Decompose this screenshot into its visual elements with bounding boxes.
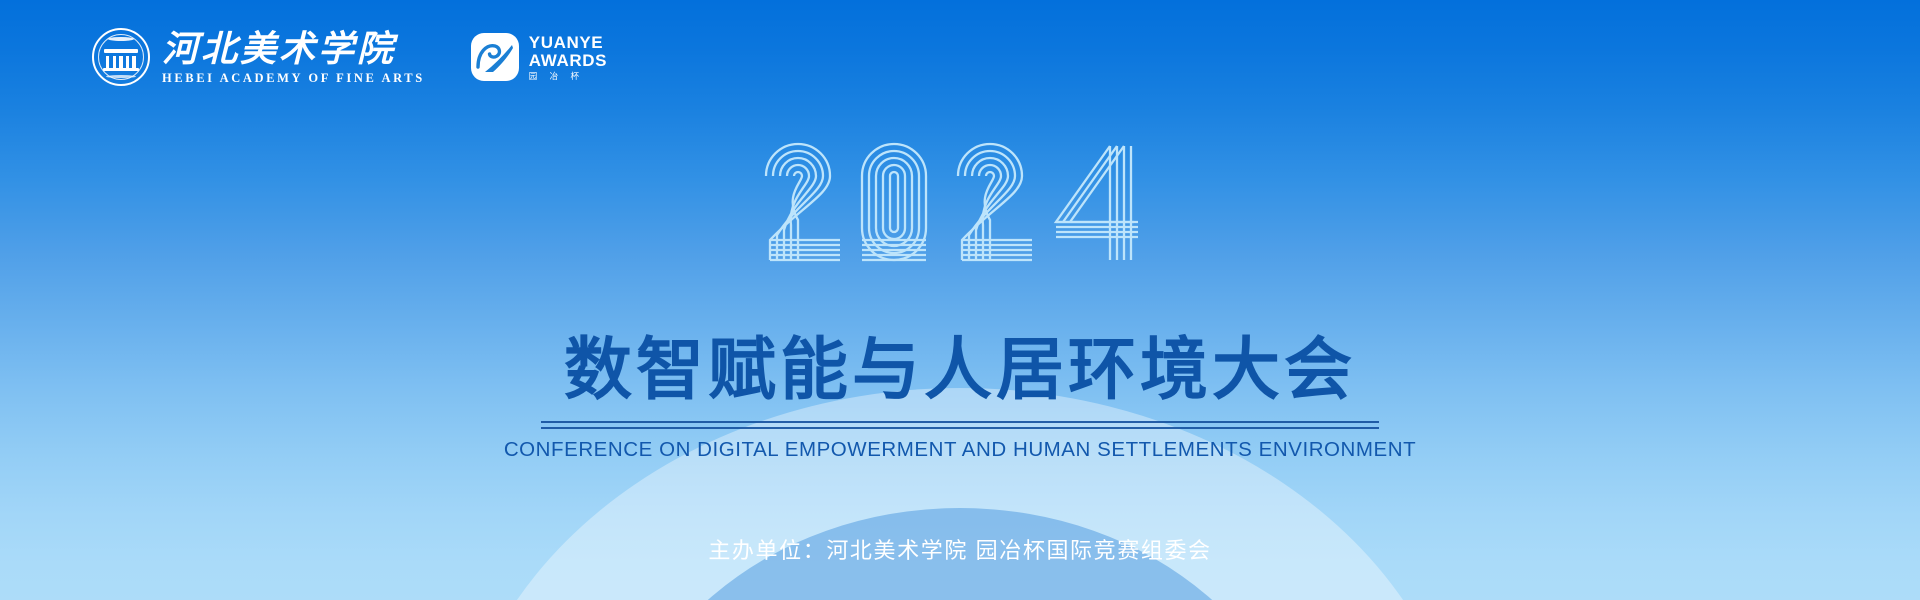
academy-seal-icon (92, 28, 150, 86)
yuanye-logo[interactable]: YUANYE AWARDS 园 冶 杯 (471, 33, 607, 81)
organizer-line: 主办单位：河北美术学院 园冶杯国际竞赛组委会 (0, 533, 1920, 565)
academy-logo-text: 河北美术学院 HEBEI ACADEMY OF FINE ARTS (162, 31, 425, 86)
conference-banner: 河北美术学院 HEBEI ACADEMY OF FINE ARTS YUANYE… (0, 0, 1920, 600)
divider-rule-bottom (541, 427, 1379, 429)
hero-title-block: 数智赋能与人居环境大会 CONFERENCE ON DIGITAL EMPOWE… (0, 332, 1920, 462)
academy-logo[interactable]: 河北美术学院 HEBEI ACADEMY OF FINE ARTS (92, 28, 425, 86)
year-graphic (0, 136, 1920, 276)
conference-title-cn: 数智赋能与人居环境大会 (0, 332, 1920, 408)
yuanye-swoosh-icon (471, 33, 519, 81)
academy-name-en: HEBEI ACADEMY OF FINE ARTS (162, 71, 425, 86)
yuanye-line1: YUANYE (529, 34, 607, 51)
year-2024-icon (760, 136, 1160, 276)
yuanye-logo-text: YUANYE AWARDS 园 冶 杯 (529, 34, 607, 81)
conference-title-en: CONFERENCE ON DIGITAL EMPOWERMENT AND HU… (0, 438, 1920, 462)
yuanye-line2: AWARDS (529, 52, 607, 69)
yuanye-line3: 园 冶 杯 (529, 72, 607, 81)
seal-bottom-arc (106, 75, 136, 78)
title-divider-rules (541, 421, 1379, 429)
academy-name-cn: 河北美术学院 (162, 31, 425, 69)
seal-top-arc (108, 37, 134, 41)
divider-rule-top (541, 421, 1379, 423)
logo-bar: 河北美术学院 HEBEI ACADEMY OF FINE ARTS YUANYE… (92, 28, 607, 86)
seal-gate-graphic (106, 49, 136, 68)
